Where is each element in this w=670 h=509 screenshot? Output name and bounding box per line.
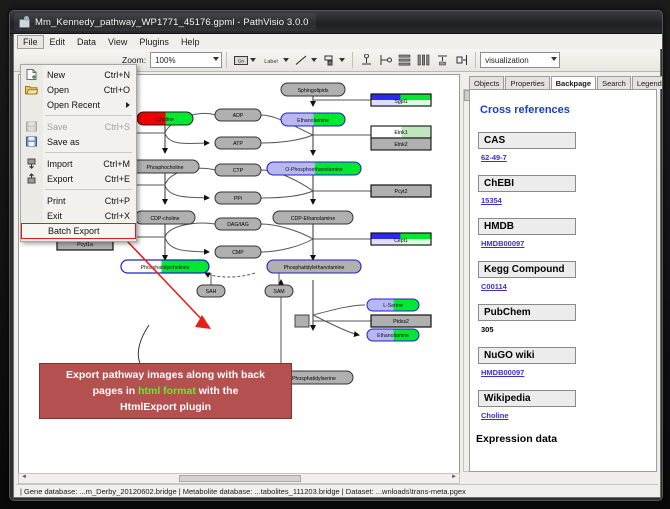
xref-link-kegg[interactable]: C00114 [481,282,507,291]
new-document-icon [25,69,38,80]
menu-label-export: Export [47,174,73,184]
cross-references-heading: Cross references [480,104,656,116]
node-sam: SAM [265,285,293,297]
node-ethanolamine-2: Ethanolamine [367,329,419,341]
node-ctp: CTP [215,164,261,176]
node-phosphatidylcholines: Phosphatidylcholines [121,260,209,273]
menu-bar: File Edit Data View Plugins Help [14,34,663,49]
datanode-tool-icon[interactable]: Gn [232,52,249,68]
node-o-phosphoethanolamine: O-Phosphoethanolamine [267,162,361,175]
menu-data[interactable]: Data [71,35,102,49]
expression-data-heading: Expression data [476,433,656,445]
tab-properties[interactable]: Properties [505,76,549,89]
tab-objects[interactable]: Objects [469,76,504,89]
callout-line2-post: with the [196,385,239,397]
zoom-value: 100% [155,56,175,65]
menu-help[interactable]: Help [175,35,206,49]
desktop-background: Mm_Kennedy_pathway_WP1771_45176.gpml - P… [0,0,670,509]
menu-plugins[interactable]: Plugins [133,35,175,49]
svg-text:SAM: SAM [273,289,284,295]
gene-etnk2: Etnk2 [371,138,431,150]
menu-label-save-as: Save as [47,137,80,147]
xref-source-hmdb: HMDB [478,218,576,235]
status-bar: | Gene database: ...m_Derby_20120602.bri… [16,484,658,497]
svg-text:L-Serine: L-Serine [383,303,403,309]
xref-link-wikipedia[interactable]: Choline [481,411,509,420]
svg-text:Pcyt2: Pcyt2 [395,189,408,195]
menu-accel-save: Ctrl+S [105,122,130,132]
xref-source-cas: CAS [478,132,576,149]
node-dag: DAG/IAG [215,218,261,230]
xref-source-chebi: ChEBI [478,175,576,192]
node-choline-top: Choline [137,112,193,125]
align-right-icon[interactable] [453,52,470,68]
node-cdp-ethanolamine: CDP-Ethanolamine [273,211,353,224]
xref-source-kegg: Kegg Compound [478,261,576,278]
distribute-horizontal-icon[interactable] [415,52,432,68]
menu-item-exit[interactable]: Exit Ctrl+X [21,208,136,223]
svg-text:Etnk2: Etnk2 [394,142,407,148]
menu-label-exit: Exit [47,211,62,221]
xref-value-kegg[interactable]: C00114 [481,282,656,291]
export-icon [25,173,38,184]
svg-text:Phosphatidylserine: Phosphatidylserine [292,376,336,382]
xref-link-cas[interactable]: 62-49-7 [481,153,507,162]
status-text: | Gene database: ...m_Derby_20120602.bri… [16,487,466,496]
scroll-left-icon[interactable]: ◄ [21,475,27,480]
menu-item-export[interactable]: Export Ctrl+E [21,171,136,186]
svg-text:CDP-Ethanolamine: CDP-Ethanolamine [291,216,336,222]
menu-accel-exit: Ctrl+X [105,211,130,221]
menu-accel-new: Ctrl+N [104,70,130,80]
node-sphingolipids: Sphingolipids [281,83,345,96]
svg-text:Phosphatidylethanolamine: Phosphatidylethanolamine [284,265,345,271]
line-tool-icon[interactable] [293,52,310,68]
menu-accel-open: Ctrl+O [104,85,130,95]
svg-text:Ethanolamine: Ethanolamine [297,118,329,124]
menu-separator [45,152,132,153]
stack-vertical-icon[interactable] [396,52,413,68]
side-panel-tabs: Objects Properties Backpage Search Legen… [469,74,655,89]
xref-value-pubchem: 305 [481,325,656,334]
gene-pcyt2: Pcyt2 [371,185,431,197]
callout-line1: Export pathway images along with back [66,369,265,381]
menu-item-import[interactable]: Import Ctrl+M [21,156,136,171]
callout-line3: HtmlExport plugin [120,401,211,413]
xref-source-wikipedia: Wikipedia [478,390,576,407]
node-ppi: PPi [215,192,261,204]
pathway-cofactor-nodes: ADP ATP CTP PPi DAG/IAG CMP [215,109,261,258]
gene-cept1: Cept1 [371,233,431,245]
menu-accel-export: Ctrl+E [105,174,130,184]
gene-sgpl1: Sgpl1 [371,94,431,106]
menu-label-save: Save [47,122,68,132]
svg-text:Gn: Gn [238,58,245,63]
chevron-down-icon [551,57,557,61]
zoom-combobox[interactable]: 100% [150,52,222,68]
xref-source-pubchem: PubChem [478,304,576,321]
node-cmp: CMP [215,246,261,258]
pathvisio-app-icon [18,16,30,28]
menu-label-print: Print [47,196,66,206]
align-bottom-icon[interactable] [434,52,451,68]
menu-item-open-recent[interactable]: Open Recent [21,97,136,112]
window-title: Mm_Kennedy_pathway_WP1771_45176.gpml - P… [35,17,309,28]
scrollbar-thumb[interactable] [179,475,301,482]
menu-item-batch-export[interactable]: Batch Export [21,223,136,239]
file-menu-popup[interactable]: New Ctrl+N Open Ctrl+O Open Recent Save [20,64,137,242]
label-dropdown-icon[interactable] [283,58,289,62]
menu-label-open: Open [47,85,69,95]
menu-accel-import: Ctrl+M [103,159,130,169]
menu-item-save: Save Ctrl+S [21,119,136,134]
node-phosphocholine: Phosphocholine [131,160,199,173]
title-bar: Mm_Kennedy_pathway_WP1771_45176.gpml - P… [10,11,662,34]
xref-value-chebi[interactable]: 15354 [481,196,656,205]
line-dropdown-icon[interactable] [311,58,317,62]
datanode-dropdown-icon[interactable] [250,58,256,62]
svg-text:Sphingolipids: Sphingolipids [298,88,329,94]
svg-text:CTP: CTP [233,168,244,174]
svg-text:Phosphocholine: Phosphocholine [147,165,184,171]
menu-label-new: New [47,70,65,80]
svg-text:Ethanolamine: Ethanolamine [377,333,409,339]
menu-item-print[interactable]: Print Ctrl+P [21,193,136,208]
tab-legend[interactable]: Legend [632,76,663,89]
submenu-arrow-icon [126,102,130,108]
callout-line2-pre: pages in [93,385,139,397]
backpage-content: Cross references CAS 62-49-7 ChEBI 15354… [469,89,657,472]
menu-label-batch-export: Batch Export [48,226,100,236]
scroll-right-icon[interactable]: ► [451,475,457,480]
svg-text:DAG/IAG: DAG/IAG [227,222,249,228]
menu-separator [45,115,132,116]
svg-text:Cept1: Cept1 [394,238,408,244]
xref-source-nugo: NuGO wiki [478,347,576,364]
gene-ptdss2: Ptdss2 [371,315,431,327]
xref-link-nugo[interactable]: HMDB00097 [481,368,524,377]
canvas-horizontal-scrollbar[interactable]: ◄ ► [18,473,460,484]
svg-text:Ptdss2: Ptdss2 [393,319,409,325]
open-folder-icon [25,84,38,95]
menu-edit[interactable]: Edit [44,35,72,49]
callout-highlight: html format [138,385,196,397]
application-body: File Edit Data View Plugins Help Zoom: 1… [13,34,661,498]
node-l-serine: L-Serine [367,299,419,311]
svg-text:Pcyt1a: Pcyt1a [77,242,93,248]
save-as-icon [25,136,38,147]
node-ethanolamine: Ethanolamine [281,113,345,126]
application-window: Mm_Kennedy_pathway_WP1771_45176.gpml - P… [9,10,663,501]
menu-separator [45,189,132,190]
svg-text:Phosphatidylcholines: Phosphatidylcholines [141,265,190,271]
receptor-tool-icon[interactable] [321,52,338,68]
menu-item-new[interactable]: New Ctrl+N [21,67,136,82]
anchor-block [295,315,309,327]
menu-item-open[interactable]: Open Ctrl+O [21,82,136,97]
menu-view[interactable]: View [102,35,133,49]
xref-value-nugo[interactable]: HMDB00097 [481,368,656,377]
svg-text:Etnk1: Etnk1 [394,130,407,136]
menu-file[interactable]: File [17,35,44,49]
svg-text:SAH: SAH [206,289,217,295]
svg-text:CDP-choline: CDP-choline [150,216,179,222]
node-adp: ADP [215,109,261,121]
chevron-down-icon [213,57,219,61]
receptor-dropdown-icon[interactable] [339,58,345,62]
align-top-icon[interactable] [358,52,375,68]
visualization-value: visualization [485,56,529,65]
menu-accel-print: Ctrl+P [105,196,130,206]
save-disk-icon [25,121,38,132]
svg-text:ADP: ADP [233,113,244,119]
svg-text:O-Phosphoethanolamine: O-Phosphoethanolamine [285,167,343,173]
menu-item-save-as[interactable]: Save as [21,134,136,149]
tab-search[interactable]: Search [597,76,631,89]
xref-value-hmdb[interactable]: HMDB00097 [481,239,656,248]
gene-etnk1: Etnk1 [371,126,431,138]
menu-label-import: Import [47,159,73,169]
svg-text:Sgpl1: Sgpl1 [394,99,407,105]
svg-text:CMP: CMP [232,250,244,256]
visualization-combobox[interactable]: visualization [480,52,560,68]
xref-value-wikipedia[interactable]: Choline [481,411,656,420]
xref-link-hmdb[interactable]: HMDB00097 [481,239,524,248]
svg-text:ATP: ATP [233,141,243,147]
node-sah: SAH [197,285,225,297]
node-phosphatidylethanolamine: Phosphatidylethanolamine [267,260,361,273]
menu-label-open-recent: Open Recent [47,100,100,110]
svg-text:Label: Label [264,59,277,65]
node-cdp-choline: CDP-choline [135,211,195,224]
xref-link-chebi[interactable]: 15354 [481,196,502,205]
svg-text:Choline: Choline [156,117,174,123]
xref-value-cas[interactable]: 62-49-7 [481,153,656,162]
svg-text:PPi: PPi [234,196,242,202]
node-atp: ATP [215,137,261,149]
tab-backpage[interactable]: Backpage [551,76,596,90]
align-left-icon[interactable] [377,52,394,68]
label-tool-icon[interactable]: Label [260,52,282,68]
side-panel: Objects Properties Backpage Search Legen… [463,74,655,472]
import-icon [25,158,38,169]
annotation-callout: Export pathway images along with back pa… [39,363,292,419]
